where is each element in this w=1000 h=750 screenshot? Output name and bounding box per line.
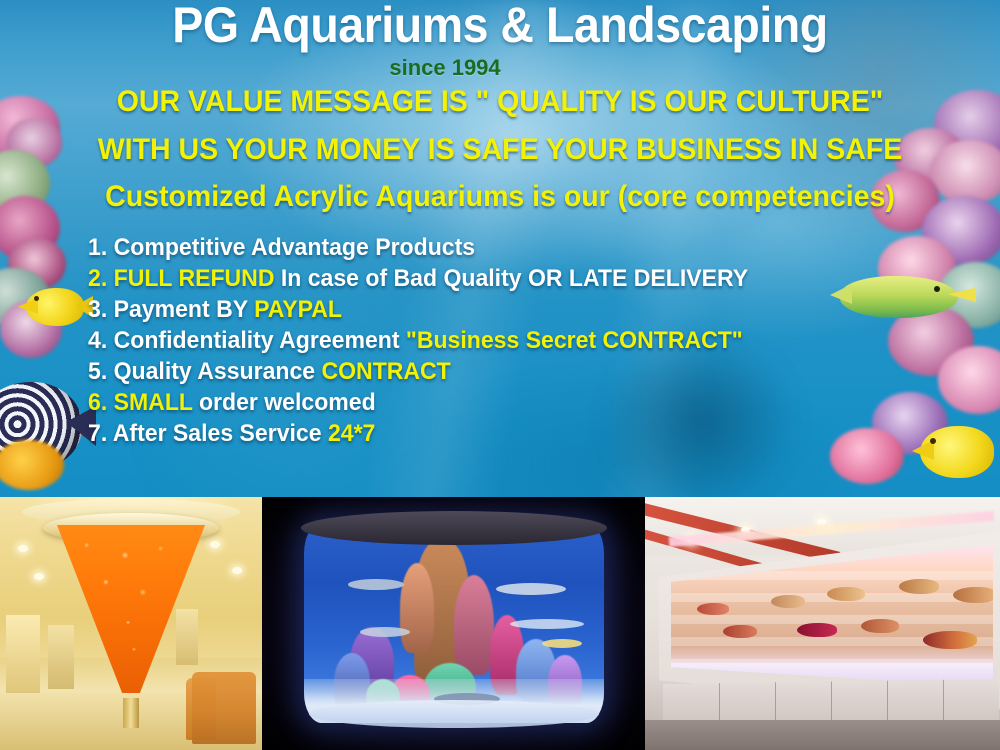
arowana-fish xyxy=(899,579,939,594)
benefit-item-text: order welcomed xyxy=(193,389,376,416)
arowana-fish xyxy=(723,625,757,638)
benefit-item-4: 4. Confidentiality Agreement "Business S… xyxy=(88,325,933,356)
benefit-item-text: In case of Bad Quality OR LATE DELIVERY xyxy=(274,265,748,292)
arowana-fish xyxy=(697,603,729,615)
value-message-line-1: OUR VALUE MESSAGE IS " QUALITY IS OUR CU… xyxy=(25,85,975,119)
benefit-item-number: 3. xyxy=(88,296,114,323)
arowana-fish xyxy=(827,587,865,601)
fish-yellow-tang-left xyxy=(20,284,96,330)
benefit-item-text: PAYPAL xyxy=(254,296,342,323)
arowana-fish xyxy=(953,587,997,603)
arowana-fish xyxy=(923,631,977,649)
benefit-item-text: Payment BY xyxy=(114,296,254,323)
benefit-item-text: Quality Assurance xyxy=(114,358,322,385)
arowana-fish xyxy=(771,595,805,608)
benefit-item-2: 2. FULL REFUND In case of Bad Quality OR… xyxy=(88,263,933,294)
benefit-item-text: FULL REFUND xyxy=(114,265,275,292)
benefit-item-text: 24*7 xyxy=(328,420,375,447)
benefit-item-text: SMALL xyxy=(114,389,193,416)
benefit-item-number: 1. xyxy=(88,234,114,261)
benefit-item-1: 1. Competitive Advantage Products xyxy=(88,232,933,263)
benefits-list: 1. Competitive Advantage Products2. FULL… xyxy=(88,232,968,449)
benefit-item-text: Confidentiality Agreement xyxy=(114,327,406,354)
benefit-item-number: 7. xyxy=(88,420,113,447)
benefit-item-number: 2. xyxy=(88,265,114,292)
photo-strip xyxy=(0,497,1000,750)
benefit-item-number: 6. xyxy=(88,389,114,416)
value-message-line-2: WITH US YOUR MONEY IS SAFE YOUR BUSINESS… xyxy=(25,133,975,167)
benefit-item-5: 5. Quality Assurance CONTRACT xyxy=(88,356,933,387)
arowana-fish xyxy=(797,623,837,637)
value-message-line-3: Customized Acrylic Aquariums is our (cor… xyxy=(25,180,975,214)
benefit-item-text: CONTRACT xyxy=(321,358,450,385)
benefit-item-text: "Business Secret CONTRACT" xyxy=(406,327,743,354)
photo-wall-arowana-aquarium xyxy=(645,497,1000,750)
benefit-item-7: 7. After Sales Service 24*7 xyxy=(88,418,933,449)
promo-banner: PG Aquariums & Landscaping since 1994 OU… xyxy=(0,0,1000,750)
photo-cylinder-reef-aquarium xyxy=(262,497,645,750)
benefit-item-3: 3. Payment BY PAYPAL xyxy=(88,294,933,325)
benefit-item-text: After Sales Service xyxy=(113,420,328,447)
photo-cone-aquarium-lobby xyxy=(0,497,262,750)
page-title: PG Aquariums & Landscaping xyxy=(35,0,965,54)
benefit-item-text: Competitive Advantage Products xyxy=(114,234,475,261)
since-label: since 1994 xyxy=(0,55,1000,81)
benefit-item-number: 5. xyxy=(88,358,114,385)
benefit-item-number: 4. xyxy=(88,327,114,354)
arowana-fish xyxy=(861,619,899,633)
benefit-item-6: 6. SMALL order welcomed xyxy=(88,387,933,418)
